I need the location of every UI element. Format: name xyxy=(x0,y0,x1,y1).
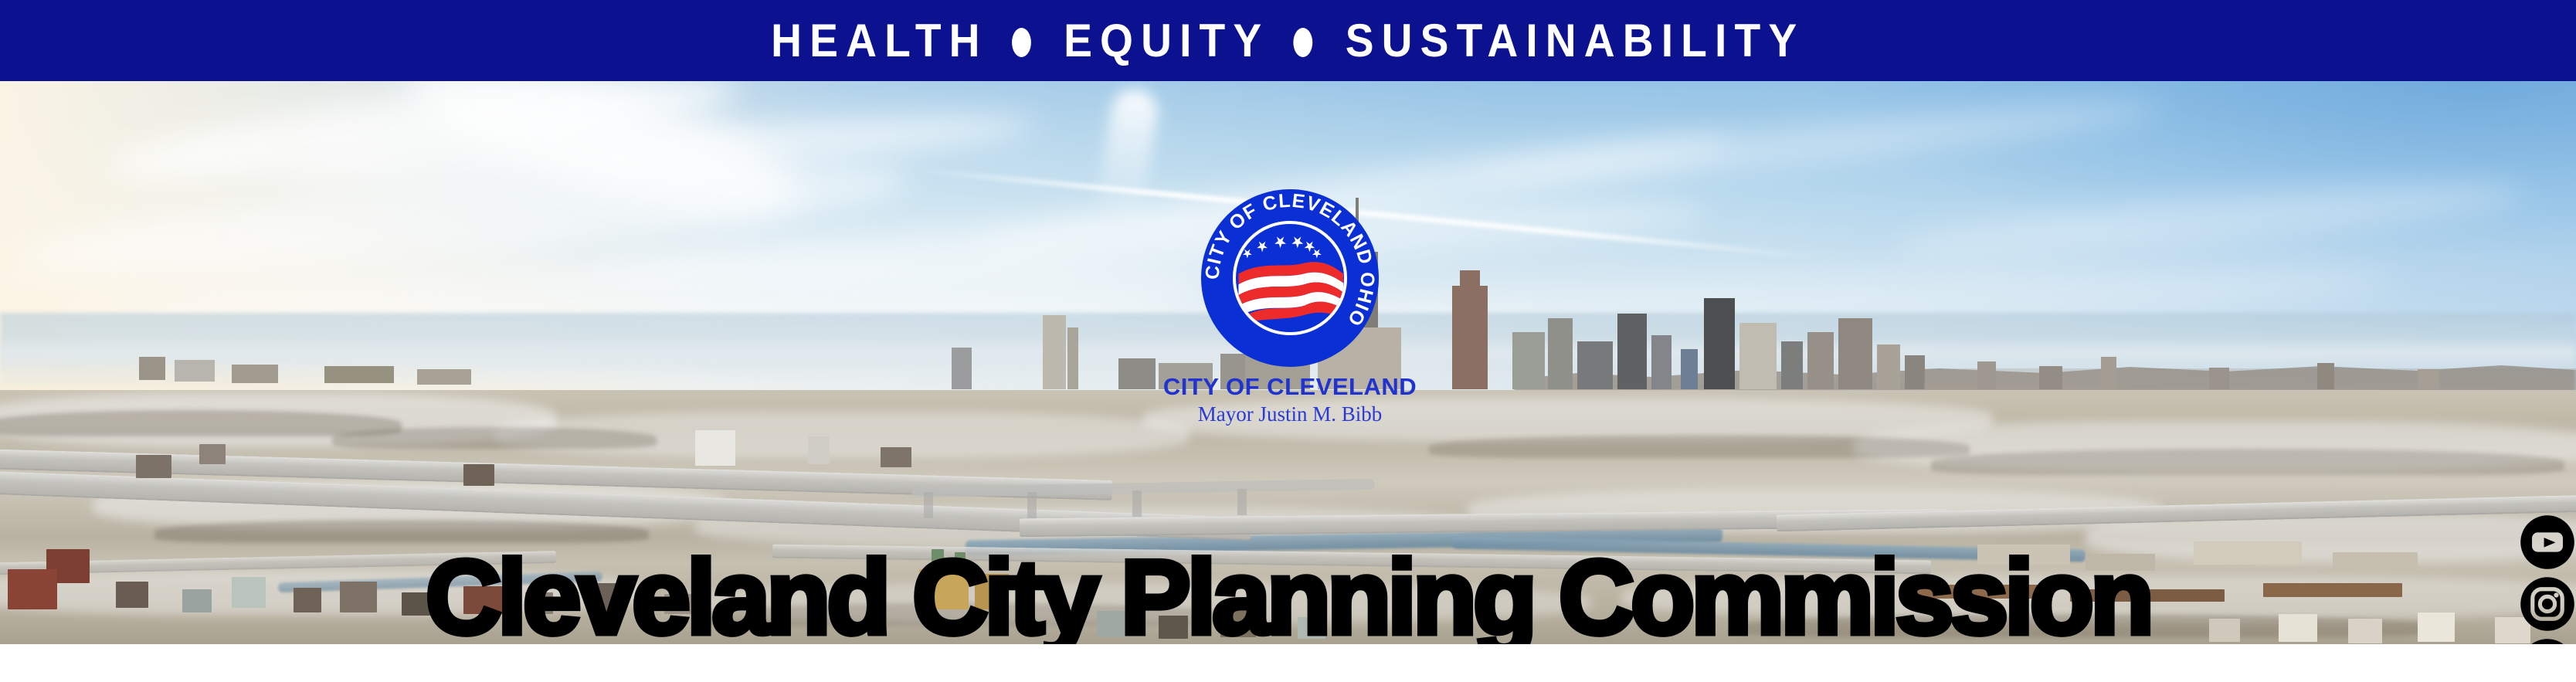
banner-word-sustainability: SUSTAINABILITY xyxy=(1346,18,1805,64)
banner-word-health: HEALTH xyxy=(771,18,987,64)
youtube-icon[interactable] xyxy=(2519,514,2576,571)
seal-flag-icon xyxy=(1234,256,1346,323)
seal-inner-disc xyxy=(1233,221,1346,334)
bullet-separator-icon xyxy=(1012,28,1031,57)
logo-title: CITY OF CLEVELAND xyxy=(1162,375,1417,400)
city-of-cleveland-seal-icon: CITY OF CLEVELAND OHIO xyxy=(1201,189,1379,367)
social-links xyxy=(2514,514,2576,644)
city-logo[interactable]: CITY OF CLEVELAND OHIO xyxy=(1162,189,1417,426)
bottom-white-strip xyxy=(0,644,2576,682)
hero-photo: CITY OF CLEVELAND OHIO xyxy=(0,81,2576,644)
instagram-icon[interactable] xyxy=(2519,575,2576,633)
bullet-separator-icon xyxy=(1294,28,1313,57)
banner-word-equity: EQUITY xyxy=(1064,18,1269,64)
logo-subtitle: Mayor Justin M. Bibb xyxy=(1162,403,1417,426)
banner-tagline: HEALTH EQUITY SUSTAINABILITY xyxy=(771,18,1804,64)
facebook-icon[interactable] xyxy=(2519,637,2576,644)
page-title: Cleveland City Planning Commission xyxy=(0,545,2576,644)
page-root: HEALTH EQUITY SUSTAINABILITY xyxy=(0,0,2576,682)
top-banner: HEALTH EQUITY SUSTAINABILITY xyxy=(0,0,2576,81)
